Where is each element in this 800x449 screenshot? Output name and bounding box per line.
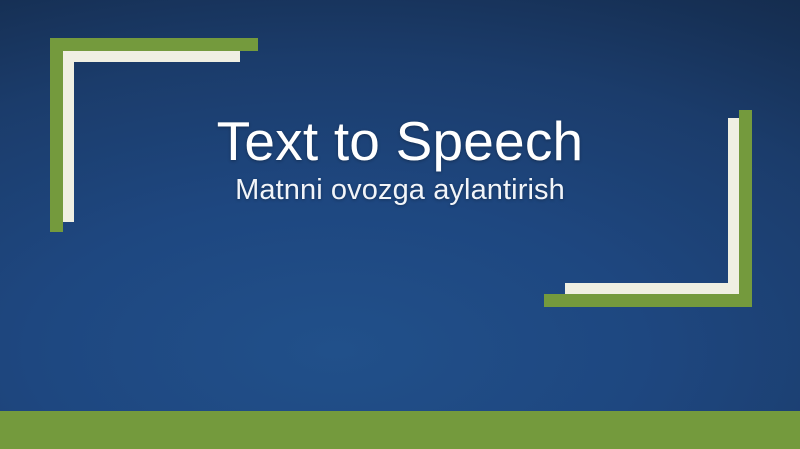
presentation-slide: Text to Speech Matnni ovozga aylantirish — [0, 0, 800, 449]
bottom-right-cream-horizontal-bar — [565, 283, 739, 294]
slide-title: Text to Speech — [0, 112, 800, 171]
bottom-accent-band — [0, 411, 800, 449]
title-block: Text to Speech Matnni ovozga aylantirish — [0, 112, 800, 207]
top-left-cream-horizontal-bar — [63, 51, 240, 62]
bottom-right-green-horizontal-bar — [544, 294, 752, 307]
slide-subtitle: Matnni ovozga aylantirish — [0, 175, 800, 207]
top-left-green-horizontal-bar — [50, 38, 258, 51]
